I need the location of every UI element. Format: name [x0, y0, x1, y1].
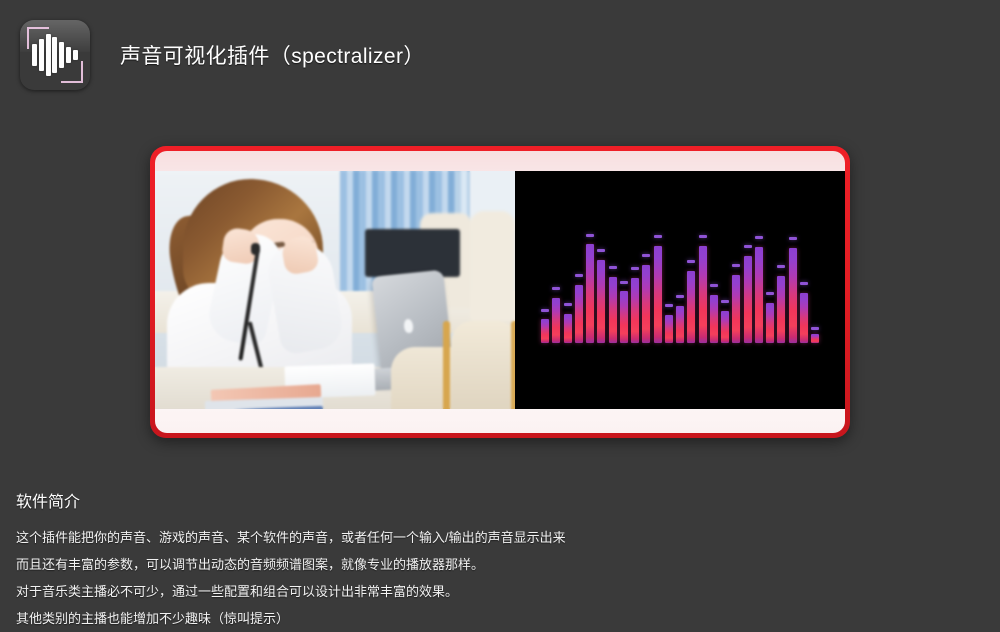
spectrum-peak-cap — [620, 281, 628, 284]
spectrum-bar-slot — [575, 231, 583, 343]
showcase-frame — [150, 146, 850, 438]
spectrum-visualizer — [515, 171, 845, 409]
spectrum-bar — [699, 246, 707, 343]
icon-waveform-bar-1 — [32, 44, 37, 66]
spectrum-peak-cap — [789, 237, 797, 240]
icon-waveform-bar-5 — [59, 42, 64, 68]
icon-waveform-bar-6 — [66, 47, 71, 64]
description-line: 这个插件能把你的声音、游戏的声音、某个软件的声音，或者任何一个输入/输出的声音显… — [16, 524, 976, 551]
spectrum-bar — [710, 295, 718, 343]
spectrum-peak-cap — [699, 235, 707, 238]
spectralizer-app-icon — [20, 20, 90, 90]
spectrum-peak-cap — [552, 287, 560, 290]
page-title: 声音可视化插件（spectralizer） — [120, 40, 425, 70]
description-line: 对于音乐类主播必不可少，通过一些配置和组合可以设计出非常丰富的效果。 — [16, 578, 976, 605]
spectrum-bar — [586, 244, 594, 343]
showcase-inner-panel — [155, 151, 845, 433]
spectrum-bar-slot — [620, 231, 628, 343]
icon-waveform-bar-7 — [73, 50, 78, 59]
media-row — [155, 171, 845, 409]
spectrum-bar — [575, 285, 583, 343]
icon-waveform-bar-2 — [39, 39, 44, 72]
icon-waveform-bars — [32, 34, 78, 76]
description-heading: 软件简介 — [16, 488, 976, 512]
spectrum-bar — [744, 256, 752, 343]
spectrum-bar — [766, 303, 774, 343]
spectrum-bar-slot — [811, 231, 819, 343]
spectrum-bar — [609, 277, 617, 343]
spectrum-peak-cap — [676, 295, 684, 298]
spectrum-bar-slot — [732, 231, 740, 343]
spectrum-peak-cap — [642, 254, 650, 257]
spectrum-bar — [597, 260, 605, 343]
spectrum-bar-slot — [665, 231, 673, 343]
spectrum-bar — [631, 278, 639, 343]
spectrum-bar-slot — [755, 231, 763, 343]
spectrum-bar — [676, 306, 684, 343]
spectrum-peak-cap — [687, 260, 695, 263]
spectrum-peak-cap — [800, 282, 808, 285]
spectrum-bar-slot — [676, 231, 684, 343]
photo-soft-focus-overlay — [155, 171, 515, 409]
spectrum-bar — [620, 291, 628, 343]
spectrum-peak-cap — [744, 245, 752, 248]
spectrum-bar — [755, 247, 763, 343]
icon-waveform-bar-4 — [52, 37, 57, 73]
spectrum-bar-slot — [721, 231, 729, 343]
description-line: 其他类别的主播也能增加不少趣味（惊叫提示） — [16, 605, 976, 632]
spectrum-bar — [552, 298, 560, 343]
spectrum-peak-cap — [575, 274, 583, 277]
spectrum-bar — [721, 311, 729, 343]
spectrum-bar-slot — [586, 231, 594, 343]
spectrum-bar — [687, 271, 695, 343]
spectrum-peak-cap — [564, 303, 572, 306]
spectrum-peak-cap — [755, 236, 763, 239]
spectrum-bar — [642, 265, 650, 343]
spectrum-peak-cap — [631, 267, 639, 270]
spectrum-bar — [665, 315, 673, 343]
spectrum-bars — [541, 231, 819, 343]
spectrum-bar — [789, 248, 797, 343]
spectrum-peak-cap — [811, 327, 819, 330]
spectrum-bar — [800, 293, 808, 343]
spectrum-peak-cap — [586, 234, 594, 237]
spectrum-bar-slot — [642, 231, 650, 343]
description-section: 软件简介 这个插件能把你的声音、游戏的声音、某个软件的声音，或者任何一个输入/输… — [16, 488, 976, 632]
page-header: 声音可视化插件（spectralizer） — [0, 0, 1000, 110]
spectrum-bar-slot — [699, 231, 707, 343]
spectrum-bar — [777, 276, 785, 343]
spectrum-peak-cap — [721, 300, 729, 303]
spectrum-bar — [564, 314, 572, 343]
spectrum-bar-slot — [800, 231, 808, 343]
spectrum-bar-slot — [654, 231, 662, 343]
spectrum-peak-cap — [597, 249, 605, 252]
spectrum-peak-cap — [654, 235, 662, 238]
spectrum-bar-slot — [777, 231, 785, 343]
spectrum-bar-slot — [766, 231, 774, 343]
spectrum-bar-slot — [687, 231, 695, 343]
spectrum-bar-slot — [552, 231, 560, 343]
spectrum-bar-slot — [541, 231, 549, 343]
spectrum-bar-slot — [609, 231, 617, 343]
spectrum-peak-cap — [766, 292, 774, 295]
spectrum-bar-slot — [597, 231, 605, 343]
spectrum-bar-slot — [631, 231, 639, 343]
description-line: 而且还有丰富的参数，可以调节出动态的音频频谱图案，就像专业的播放器那样。 — [16, 551, 976, 578]
spectrum-peak-cap — [710, 284, 718, 287]
spectrum-bar — [811, 334, 819, 343]
spectrum-bar — [541, 319, 549, 343]
spectrum-bar-slot — [564, 231, 572, 343]
spectrum-bar-slot — [710, 231, 718, 343]
spectrum-peak-cap — [541, 309, 549, 312]
demo-photo — [155, 171, 515, 409]
icon-waveform-bar-3 — [46, 34, 51, 76]
spectrum-bar — [732, 275, 740, 343]
spectrum-peak-cap — [777, 265, 785, 268]
spectrum-bar-slot — [744, 231, 752, 343]
spectrum-bar — [654, 246, 662, 343]
spectrum-peak-cap — [665, 304, 673, 307]
spectrum-bar-slot — [789, 231, 797, 343]
spectrum-peak-cap — [609, 266, 617, 269]
spectrum-peak-cap — [732, 264, 740, 267]
